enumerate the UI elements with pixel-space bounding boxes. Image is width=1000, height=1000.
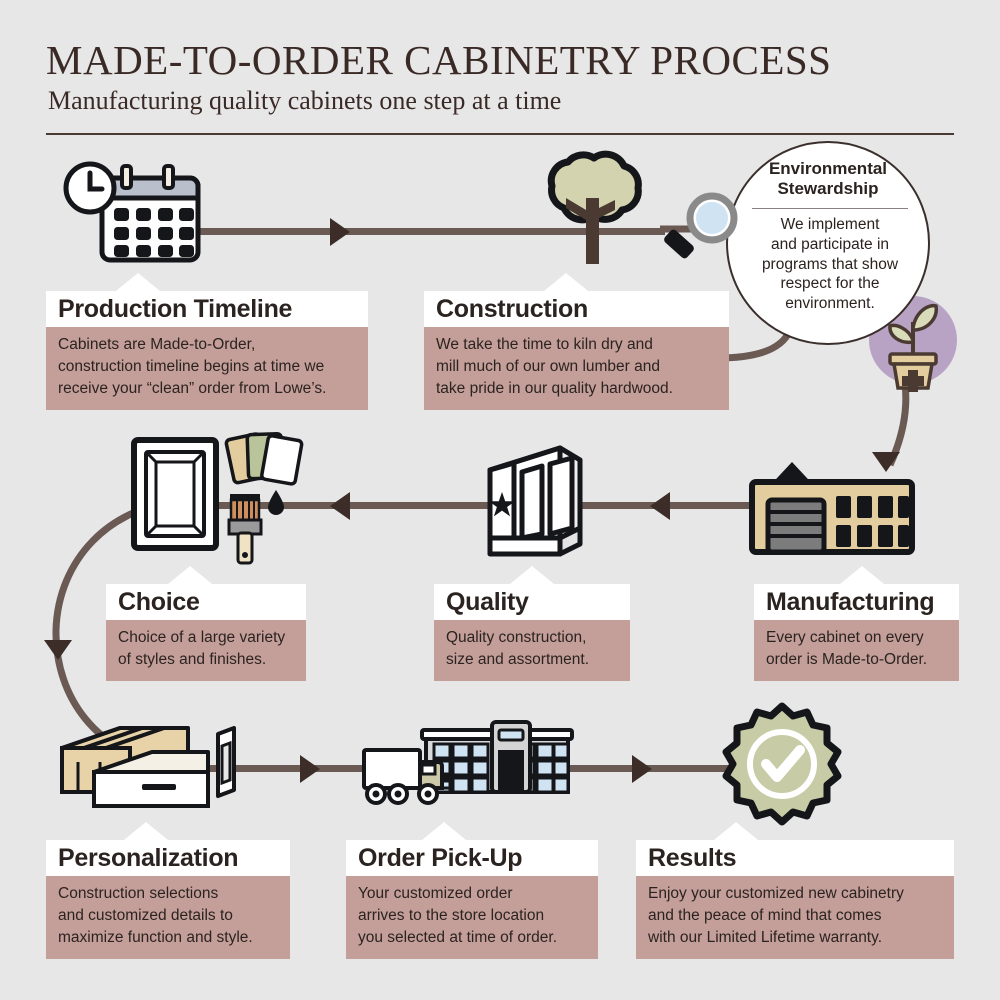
card-choice: Choice Choice of a large variety of styl… <box>106 584 306 681</box>
card-notch <box>714 822 758 840</box>
callout-body-line4: respect for the <box>742 274 918 294</box>
card-title: Personalization <box>46 840 290 876</box>
card-notch <box>124 822 168 840</box>
callout-divider <box>752 208 908 209</box>
environmental-stewardship-callout: Environmental Stewardship We implement a… <box>726 141 930 345</box>
card-line: receive your “clean” order from Lowe’s. <box>58 378 356 400</box>
card-notch <box>544 273 588 291</box>
callout-title: Environmental Stewardship <box>728 159 928 200</box>
arrow-left-row2-b <box>650 492 670 520</box>
card-line: you selected at time of order. <box>358 927 586 949</box>
card-line: Cabinets are Made-to-Order, <box>58 334 356 356</box>
card-line: We take the time to kiln dry and <box>436 334 717 356</box>
card-construction: Construction We take the time to kiln dr… <box>424 291 729 410</box>
callout-body-line2: and participate in <box>742 235 918 255</box>
cabinet-door-swatches-brush-icon <box>130 428 305 568</box>
arrow-right-row3-a <box>300 755 320 783</box>
arrow-left-row2-a <box>330 492 350 520</box>
card-line: Choice of a large variety <box>118 627 294 649</box>
card-notch <box>168 566 212 584</box>
card-line: with our Limited Lifetime warranty. <box>648 927 942 949</box>
card-results: Results Enjoy your customized new cabine… <box>636 840 954 959</box>
card-line: arrives to the store location <box>358 905 586 927</box>
card-line: order is Made-to-Order. <box>766 649 947 671</box>
callout-body: We implement and participate in programs… <box>742 215 918 314</box>
callout-title-line2: Stewardship <box>728 179 928 199</box>
card-body: Quality construction, size and assortmen… <box>434 620 630 681</box>
card-line: take pride in our quality hardwood. <box>436 378 717 400</box>
card-notch <box>422 822 466 840</box>
magnifying-glass-icon <box>662 192 752 272</box>
card-title: Quality <box>434 584 630 620</box>
card-notch <box>510 566 554 584</box>
card-line: Enjoy your customized new cabinetry <box>648 883 942 905</box>
card-body: Cabinets are Made-to-Order, construction… <box>46 327 368 410</box>
callout-title-line1: Environmental <box>728 159 928 179</box>
callout-body-line1: We implement <box>742 215 918 235</box>
card-body: Enjoy your customized new cabinetry and … <box>636 876 954 959</box>
card-title: Construction <box>424 291 729 327</box>
card-line: and customized details to <box>58 905 278 927</box>
card-body: We take the time to kiln dry and mill mu… <box>424 327 729 410</box>
page-subtitle: Manufacturing quality cabinets one step … <box>48 86 561 116</box>
card-personalization: Personalization Construction selections … <box>46 840 290 959</box>
check-badge-icon <box>722 702 842 822</box>
card-line: size and assortment. <box>446 649 618 671</box>
card-order-pick-up: Order Pick-Up Your customized order arri… <box>346 840 598 959</box>
card-body: Choice of a large variety of styles and … <box>106 620 306 681</box>
card-line: mill much of our own lumber and <box>436 356 717 378</box>
card-body: Your customized order arrives to the sto… <box>346 876 598 959</box>
arrow-right-row3-b <box>632 755 652 783</box>
card-line: Construction selections <box>58 883 278 905</box>
card-body: Construction selections and customized d… <box>46 876 290 959</box>
card-title: Order Pick-Up <box>346 840 598 876</box>
header-divider <box>46 133 954 135</box>
cabinet-star-icon <box>476 442 591 562</box>
card-line: of styles and finishes. <box>118 649 294 671</box>
card-line: construction timeline begins at time we <box>58 356 356 378</box>
card-body: Every cabinet on every order is Made-to-… <box>754 620 959 681</box>
card-quality: Quality Quality construction, size and a… <box>434 584 630 681</box>
page-title: MADE-TO-ORDER CABINETRY PROCESS <box>46 36 831 84</box>
card-line: Quality construction, <box>446 627 618 649</box>
card-line: Your customized order <box>358 883 586 905</box>
card-line: Every cabinet on every <box>766 627 947 649</box>
card-title: Manufacturing <box>754 584 959 620</box>
calendar-clock-icon <box>60 160 210 270</box>
card-production-timeline: Production Timeline Cabinets are Made-to… <box>46 291 368 410</box>
card-line: and the peace of mind that comes <box>648 905 942 927</box>
infographic-root: MADE-TO-ORDER CABINETRY PROCESS Manufact… <box>0 0 1000 1000</box>
arrow-down-row2-row3 <box>44 640 72 660</box>
card-notch <box>840 566 884 584</box>
factory-icon <box>742 452 922 562</box>
callout-body-line3: programs that show <box>742 255 918 275</box>
drawer-handle-icon <box>58 718 248 818</box>
arrow-right-row1 <box>330 218 350 246</box>
card-manufacturing: Manufacturing Every cabinet on every ord… <box>754 584 959 681</box>
card-title: Choice <box>106 584 306 620</box>
callout-body-line5: environment. <box>742 294 918 314</box>
tree-icon <box>528 152 658 277</box>
card-notch <box>116 273 160 291</box>
delivery-truck-store-icon <box>358 712 578 817</box>
card-line: maximize function and style. <box>58 927 278 949</box>
card-title: Production Timeline <box>46 291 368 327</box>
card-title: Results <box>636 840 954 876</box>
